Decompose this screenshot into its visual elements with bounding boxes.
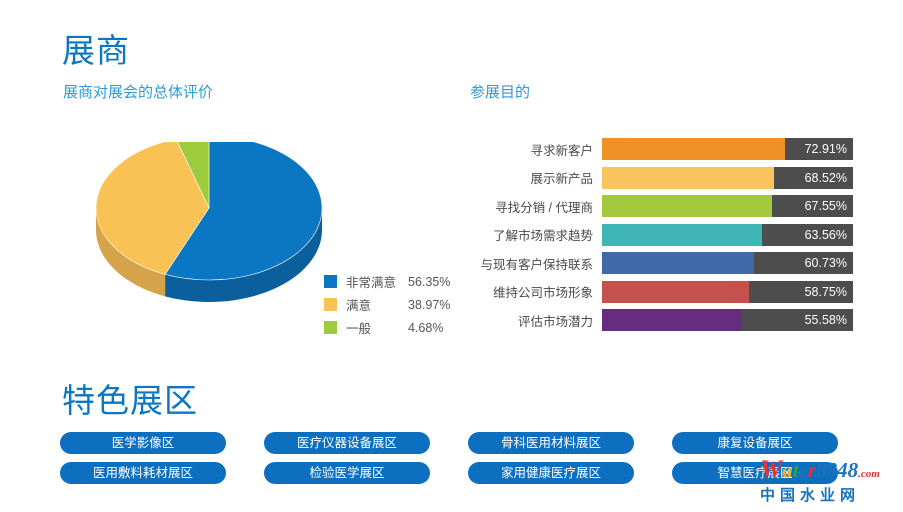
bar-label: 寻求新客户 xyxy=(470,140,602,159)
bar-row: 与现有客户保持联系60.73% xyxy=(470,252,853,274)
zone-button-1[interactable]: 医学影像区 xyxy=(60,432,226,454)
zone-button-6[interactable]: 检验医学展区 xyxy=(264,462,430,484)
zone-button-7[interactable]: 家用健康医疗展区 xyxy=(468,462,634,484)
bar-fill xyxy=(602,167,774,189)
legend-label: 满意 xyxy=(346,295,408,314)
bar-fill xyxy=(602,224,762,246)
zone-button-3[interactable]: 骨科医用材料展区 xyxy=(468,432,634,454)
legend-value: 56.35% xyxy=(408,275,450,289)
bar-value: 68.52% xyxy=(805,167,847,189)
legend-item: 一般4.68% xyxy=(324,316,489,339)
bar-value: 55.58% xyxy=(805,309,847,331)
pie-chart-legend: 非常满意56.35%满意38.97%一般4.68% xyxy=(324,270,489,339)
bar-track: 55.58% xyxy=(602,309,853,331)
legend-label: 非常满意 xyxy=(346,272,408,291)
page-title-feature-zone: 特色展区 xyxy=(62,374,198,422)
bar-value: 63.56% xyxy=(805,224,847,246)
bar-fill xyxy=(602,195,772,217)
bar-track: 72.91% xyxy=(602,138,853,160)
bar-label: 了解市场需求趋势 xyxy=(470,225,602,244)
bar-track: 63.56% xyxy=(602,224,853,246)
bar-chart-subtitle: 参展目的 xyxy=(470,81,530,102)
bar-chart: 寻求新客户72.91%展示新产品68.52%寻找分销 / 代理商67.55%了解… xyxy=(470,138,853,338)
legend-swatch-3 xyxy=(324,321,337,334)
bar-value: 58.75% xyxy=(805,281,847,303)
page-title-exhibitor: 展商 xyxy=(62,24,130,72)
bar-track: 67.55% xyxy=(602,195,853,217)
bar-row: 寻找分销 / 代理商67.55% xyxy=(470,195,853,217)
bar-fill xyxy=(602,281,749,303)
bar-fill xyxy=(602,309,742,331)
bar-label: 寻找分销 / 代理商 xyxy=(470,197,602,216)
legend-label: 一般 xyxy=(346,318,408,337)
zone-button-group: 医学影像区医疗仪器设备展区骨科医用材料展区康复设备展区医用敷料耗材展区检验医学展… xyxy=(60,432,850,484)
bar-row: 展示新产品68.52% xyxy=(470,167,853,189)
bar-row: 维持公司市场形象58.75% xyxy=(470,281,853,303)
legend-swatch-1 xyxy=(324,275,337,288)
bar-value: 67.55% xyxy=(805,195,847,217)
legend-item: 非常满意56.35% xyxy=(324,270,489,293)
bar-value: 72.91% xyxy=(805,138,847,160)
watermark-chinese-name: 中国水业网 xyxy=(760,486,900,506)
legend-swatch-2 xyxy=(324,298,337,311)
bar-row: 寻求新客户72.91% xyxy=(470,138,853,160)
zone-button-2[interactable]: 医疗仪器设备展区 xyxy=(264,432,430,454)
bar-label: 维持公司市场形象 xyxy=(470,282,602,301)
bar-label: 与现有客户保持联系 xyxy=(470,254,602,273)
bar-fill xyxy=(602,138,785,160)
bar-track: 58.75% xyxy=(602,281,853,303)
bar-row: 评估市场潜力55.58% xyxy=(470,309,853,331)
bar-label: 展示新产品 xyxy=(470,168,602,187)
pie-chart xyxy=(96,142,322,302)
watermark-tld: .com xyxy=(858,468,880,480)
bar-row: 了解市场需求趋势63.56% xyxy=(470,224,853,246)
bar-label: 评估市场潜力 xyxy=(470,311,602,330)
legend-value: 4.68% xyxy=(408,321,443,335)
zone-button-4[interactable]: 康复设备展区 xyxy=(672,432,838,454)
bar-track: 60.73% xyxy=(602,252,853,274)
legend-value: 38.97% xyxy=(408,298,450,312)
bar-value: 60.73% xyxy=(805,252,847,274)
legend-item: 满意38.97% xyxy=(324,293,489,316)
pie-chart-subtitle: 展商对展会的总体评价 xyxy=(63,81,213,102)
zone-button-5[interactable]: 医用敷料耗材展区 xyxy=(60,462,226,484)
bar-track: 68.52% xyxy=(602,167,853,189)
slide-root: 展商 展商对展会的总体评价 参展目的 非常满意56.35%满意38.97%一般4… xyxy=(0,0,903,512)
zone-button-8[interactable]: 智慧医疗展区 xyxy=(672,462,838,484)
bar-fill xyxy=(602,252,754,274)
pie-chart-svg xyxy=(96,142,322,302)
